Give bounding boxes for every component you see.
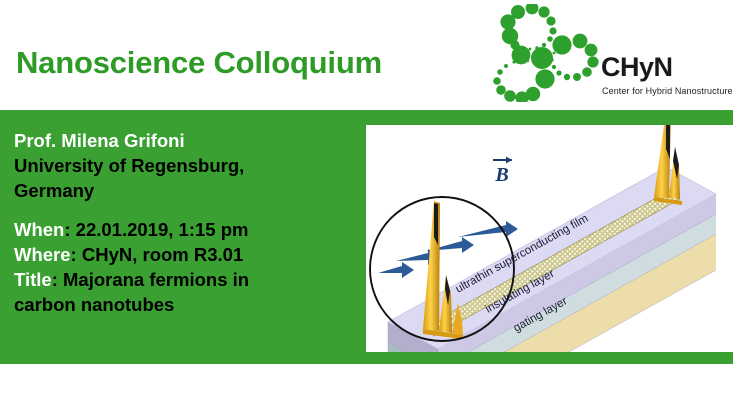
- talk-title-value-line2: carbon nanotubes: [14, 292, 354, 317]
- speaker-affiliation-line1: University of Regensburg,: [14, 153, 354, 178]
- talk-title-label: Title: [14, 269, 52, 290]
- event-title-row: Title: Majorana fermions in: [14, 267, 354, 292]
- event-info-block: Prof. Milena Grifoni University of Regen…: [14, 128, 354, 317]
- where-label: Where: [14, 244, 71, 265]
- chyn-logo-wordmark: CHyN: [601, 54, 673, 81]
- where-value: : CHyN, room R3.01: [71, 244, 244, 265]
- svg-text:B: B: [494, 164, 508, 186]
- chyn-logo-mark-icon: [488, 4, 608, 102]
- poster-header: Nanoscience Colloquium: [0, 0, 733, 110]
- event-details-block: When: 22.01.2019, 1:15 pm Where: CHyN, r…: [14, 217, 354, 317]
- speaker-block: Prof. Milena Grifoni University of Regen…: [14, 128, 354, 203]
- event-when-row: When: 22.01.2019, 1:15 pm: [14, 217, 354, 242]
- figure-panel: B: [366, 125, 733, 352]
- page-title: Nanoscience Colloquium: [16, 45, 382, 81]
- chyn-logo-tagline: Center for Hybrid Nanostructures: [602, 86, 733, 96]
- when-label: When: [14, 219, 64, 240]
- speaker-name: Prof. Milena Grifoni: [14, 128, 354, 153]
- when-value: : 22.01.2019, 1:15 pm: [64, 219, 248, 240]
- event-where-row: Where: CHyN, room R3.01: [14, 242, 354, 267]
- chyn-logo: CHyN Center for Hybrid Nanostructures: [488, 4, 733, 106]
- nanotube-device-diagram: B: [366, 125, 733, 352]
- poster-root: Nanoscience Colloquium: [0, 0, 733, 414]
- speaker-affiliation-line2: Germany: [14, 178, 354, 203]
- talk-title-value: : Majorana fermions in: [52, 269, 249, 290]
